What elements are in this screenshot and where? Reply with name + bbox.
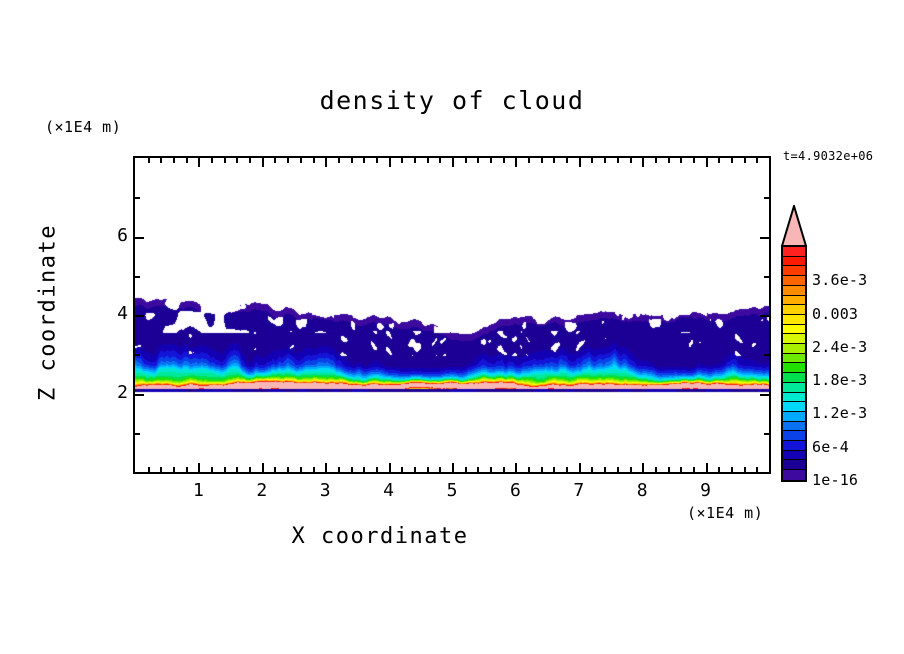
y-tick-label: 2 [88,382,128,403]
axis-tick [579,158,581,167]
axis-tick [760,315,769,317]
axis-tick [490,467,492,472]
x-tick-label: 2 [242,480,282,501]
axis-tick [414,467,416,472]
axis-tick [579,463,581,472]
axis-tick [541,467,543,472]
axis-tick [718,158,720,163]
colorbar-tick-label: 1.8e-3 [812,371,867,389]
axis-tick [566,158,568,163]
axis-tick [642,158,644,167]
axis-tick [224,467,226,472]
axis-tick [604,158,606,163]
colorbar-band [783,383,805,393]
x-tick-label: 4 [369,480,409,501]
colorbar-over-arrow [781,205,807,247]
axis-tick [591,467,593,472]
axis-tick [617,467,619,472]
colorbar-tick-label: 0.003 [812,305,858,323]
axis-tick [452,463,454,472]
axis-tick [300,158,302,163]
axis-tick [731,158,733,163]
colorbar-band [783,354,805,364]
axis-tick [135,276,140,278]
axis-tick [186,467,188,472]
axis-tick [325,158,327,167]
axis-tick [249,467,251,472]
axis-tick [236,158,238,163]
axis-tick [313,158,315,163]
axis-tick [135,354,140,356]
page-title: density of cloud [0,86,904,115]
colorbar-band [783,266,805,276]
axis-tick [427,158,429,163]
contour-field [135,158,769,472]
colorbar-band [783,286,805,296]
colorbar-band [783,325,805,335]
axis-tick [135,197,140,199]
axis-tick [313,467,315,472]
axis-tick [756,158,758,163]
axis-tick [756,467,758,472]
axis-tick [515,158,517,167]
axis-tick [300,467,302,472]
x-axis-title: X coordinate [0,524,760,549]
axis-tick [135,433,140,435]
axis-tick [477,158,479,163]
axis-tick [376,467,378,472]
axis-tick [351,467,353,472]
axis-tick [490,158,492,163]
axis-tick [148,158,150,163]
axis-tick [186,158,188,163]
x-tick-label: 5 [432,480,472,501]
colorbar-tick-label: 3.6e-3 [812,271,867,289]
axis-tick [363,158,365,163]
colorbar-tick-label: 6e-4 [812,438,849,456]
x-tick-label: 3 [305,480,345,501]
colorbar-band [783,363,805,373]
axis-tick [439,158,441,163]
figure-root: density of cloud (×1E4 m) (×1E4 m) t=4.9… [0,0,904,654]
colorbar-band [783,257,805,267]
axis-tick [528,467,530,472]
axis-tick [693,467,695,472]
colorbar-tick-label: 1.2e-3 [812,404,867,422]
axis-tick [760,394,769,396]
axis-tick [591,158,593,163]
x-tick-label: 9 [686,480,726,501]
axis-tick [439,467,441,472]
axis-tick [198,463,200,472]
axis-tick [224,158,226,163]
axis-tick [414,158,416,163]
y-axis-title: Z coordinate [36,223,61,403]
colorbar-band [783,344,805,354]
axis-tick [389,158,391,167]
axis-tick [363,467,365,472]
x-tick-label: 6 [495,480,535,501]
axis-tick [401,467,403,472]
axis-tick [642,463,644,472]
axis-tick [760,237,769,239]
axis-tick [668,467,670,472]
colorbar-band [783,451,805,461]
y-tick-label: 4 [88,303,128,324]
axis-tick [351,158,353,163]
colorbar-band [783,373,805,383]
x-units-label: (×1E4 m) [687,504,763,522]
axis-tick [338,467,340,472]
axis-tick [764,354,769,356]
axis-tick [655,467,657,472]
colorbar-band [783,315,805,325]
colorbar-band [783,460,805,470]
colorbar-band [783,412,805,422]
plot-area [133,156,771,474]
colorbar-band [783,441,805,451]
axis-tick [680,158,682,163]
colorbar-band [783,470,805,480]
axis-tick [160,467,162,472]
axis-tick [503,467,505,472]
axis-tick [764,433,769,435]
axis-tick [287,158,289,163]
y-units-label: (×1E4 m) [45,118,121,136]
axis-tick [211,158,213,163]
colorbar-tick-label: 1e-16 [812,471,858,489]
axis-tick [477,467,479,472]
axis-tick [706,463,708,472]
timestamp-annotation: t=4.9032e+06 [783,149,873,163]
axis-tick [389,463,391,472]
colorbar-tick-label: 2.4e-3 [812,338,867,356]
colorbar-band [783,422,805,432]
colorbar-band [783,276,805,286]
axis-tick [465,158,467,163]
x-tick-label: 8 [622,480,662,501]
axis-tick [135,394,144,396]
axis-tick [630,467,632,472]
axis-tick [566,467,568,472]
colorbar[interactable] [781,245,807,482]
axis-tick [211,467,213,472]
axis-tick [173,158,175,163]
axis-tick [135,315,144,317]
axis-tick [515,463,517,472]
colorbar-band [783,247,805,257]
axis-tick [744,158,746,163]
colorbar-band [783,334,805,344]
axis-tick [249,158,251,163]
axis-tick [148,467,150,472]
axis-tick [706,158,708,167]
axis-tick [668,158,670,163]
axis-tick [465,467,467,472]
axis-tick [160,158,162,163]
axis-tick [528,158,530,163]
axis-tick [553,467,555,472]
axis-tick [427,467,429,472]
axis-tick [744,467,746,472]
axis-tick [198,158,200,167]
axis-tick [135,237,144,239]
colorbar-band [783,393,805,403]
x-tick-label: 1 [178,480,218,501]
axis-tick [693,158,695,163]
axis-tick [262,463,264,472]
axis-tick [553,158,555,163]
colorbar-band [783,305,805,315]
axis-tick [655,158,657,163]
y-tick-label: 6 [88,225,128,246]
axis-tick [325,463,327,472]
axis-tick [274,467,276,472]
axis-tick [262,158,264,167]
axis-tick [236,467,238,472]
axis-tick [401,158,403,163]
colorbar-band [783,296,805,306]
axis-tick [680,467,682,472]
axis-tick [604,467,606,472]
colorbar-band [783,402,805,412]
axis-tick [338,158,340,163]
axis-tick [503,158,505,163]
axis-tick [287,467,289,472]
axis-tick [764,197,769,199]
axis-tick [617,158,619,163]
axis-tick [274,158,276,163]
axis-tick [376,158,378,163]
axis-tick [731,467,733,472]
axis-tick [764,276,769,278]
axis-tick [718,467,720,472]
axis-tick [541,158,543,163]
axis-tick [630,158,632,163]
colorbar-band [783,431,805,441]
axis-tick [173,467,175,472]
axis-tick [452,158,454,167]
x-tick-label: 7 [559,480,599,501]
